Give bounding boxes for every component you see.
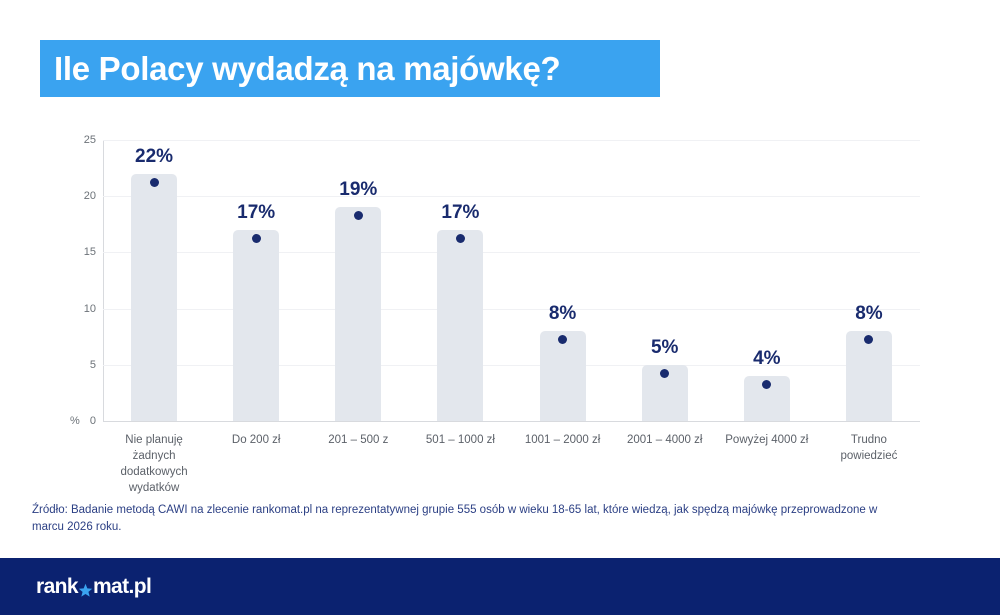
x-axis-tick-label: Trudnopowiedzieć — [817, 432, 921, 464]
x-axis-tick-label: 201 – 500 z — [306, 432, 410, 448]
x-axis-tick-label: 501 – 1000 zł — [408, 432, 512, 448]
gridline — [103, 309, 920, 310]
title-banner: Ile Polacy wydadzą na majówkę? — [40, 40, 660, 97]
x-axis-tick-label: 2001 – 4000 zł — [613, 432, 717, 448]
bar-value-label: 4% — [753, 348, 780, 370]
x-axis-tick-label: 1001 – 2000 zł — [511, 432, 615, 448]
footer-bar: rank mat.pl — [0, 558, 1000, 615]
bar — [131, 174, 177, 421]
y-axis-tick-label: 20 — [84, 190, 96, 202]
bar-group: 8% — [846, 140, 892, 421]
bar-value-label: 19% — [339, 179, 377, 201]
x-axis-labels: Nie planujężadnychdodatkowychwydatkówDo … — [103, 432, 920, 512]
gridline — [103, 421, 920, 422]
bar-value-label: 8% — [549, 303, 576, 325]
y-axis-ticks: 0510152025 — [0, 140, 96, 421]
bar-group: 4% — [744, 140, 790, 421]
bar — [540, 331, 586, 421]
bar-value-label: 8% — [855, 303, 882, 325]
bar-group: 17% — [233, 140, 279, 421]
bar-value-label: 17% — [237, 202, 275, 224]
x-axis-tick-label: Nie planujężadnychdodatkowychwydatków — [102, 432, 206, 496]
y-axis-tick-label: 10 — [84, 303, 96, 315]
bar-chart: 0510152025 % 22%17%19%17%8%5%4%8% Nie pl… — [0, 130, 1000, 490]
data-point-marker — [252, 234, 261, 243]
star-icon — [78, 580, 93, 595]
x-axis-tick-label: Do 200 zł — [204, 432, 308, 448]
bar-group: 5% — [642, 140, 688, 421]
source-footnote: Źródło: Badanie metodą CAWI na zlecenie … — [32, 502, 912, 536]
y-axis-unit-label: % — [70, 415, 80, 427]
logo-text-after: mat.pl — [93, 575, 151, 599]
bar — [437, 230, 483, 421]
y-axis-tick-label: 15 — [84, 246, 96, 258]
y-axis-tick-label: 5 — [90, 359, 96, 371]
data-point-marker — [150, 178, 159, 187]
data-point-marker — [456, 234, 465, 243]
bar-group: 8% — [540, 140, 586, 421]
gridline — [103, 196, 920, 197]
page-title: Ile Polacy wydadzą na majówkę? — [40, 50, 560, 88]
logo-text-before: rank — [36, 575, 78, 599]
plot-area: 22%17%19%17%8%5%4%8% — [103, 140, 920, 421]
bar-value-label: 5% — [651, 337, 678, 359]
gridline — [103, 252, 920, 253]
x-axis-tick-label: Powyżej 4000 zł — [715, 432, 819, 448]
bar-value-label: 22% — [135, 146, 173, 168]
bar — [233, 230, 279, 421]
bar-group: 17% — [437, 140, 483, 421]
y-axis-tick-label: 25 — [84, 134, 96, 146]
gridline — [103, 140, 920, 141]
gridline — [103, 365, 920, 366]
bar — [335, 207, 381, 421]
bar-group: 19% — [335, 140, 381, 421]
bar-group: 22% — [131, 140, 177, 421]
y-axis-tick-label: 0 — [90, 415, 96, 427]
bar — [846, 331, 892, 421]
bar-value-label: 17% — [441, 202, 479, 224]
data-point-marker — [660, 369, 669, 378]
rankomat-logo: rank mat.pl — [36, 575, 151, 599]
